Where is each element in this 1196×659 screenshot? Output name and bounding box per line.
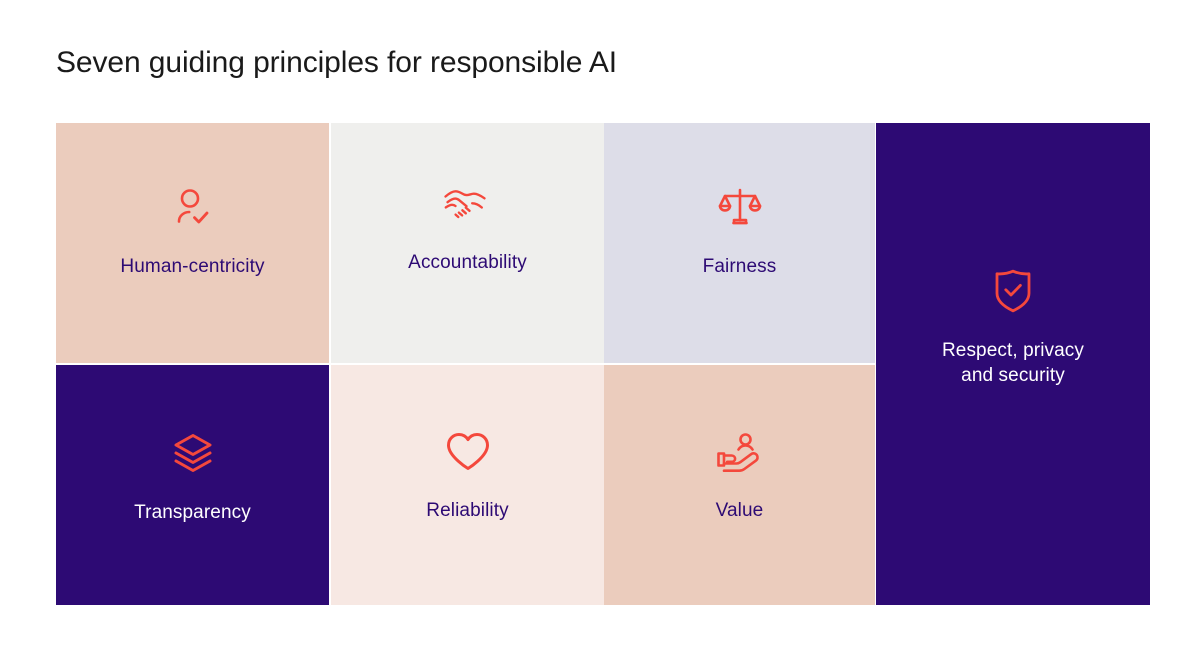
principle-label-line-1: Respect, privacy [942, 340, 1084, 361]
principle-tile-fairness[interactable]: Fairness [604, 123, 875, 363]
layers-stack-icon [171, 431, 215, 475]
principle-label: Value [716, 498, 764, 523]
principle-label: Reliability [426, 498, 508, 523]
principle-tile-transparency[interactable]: Transparency [56, 365, 329, 605]
principle-tile-accountability[interactable]: Accountability [331, 123, 604, 363]
principle-label: Human-centricity [120, 254, 264, 279]
principle-label-line-2: and security [961, 365, 1065, 386]
principle-tile-respect-privacy-security[interactable]: Respect, privacyand security [876, 123, 1150, 605]
handshake-icon [443, 185, 493, 225]
hand-person-icon [716, 431, 764, 473]
principle-label: Respect, privacyand security [942, 338, 1084, 388]
scales-icon [718, 185, 762, 229]
principle-tile-reliability[interactable]: Reliability [331, 365, 604, 605]
principle-label: Transparency [134, 500, 251, 525]
principle-tile-human-centricity[interactable]: Human-centricity [56, 123, 329, 363]
page-title: Seven guiding principles for responsible… [56, 44, 617, 82]
person-check-icon [171, 185, 215, 229]
principle-label: Fairness [703, 254, 777, 279]
heart-icon [445, 431, 491, 473]
shield-check-icon [992, 268, 1034, 314]
responsible-ai-principles-page: Seven guiding principles for responsible… [0, 0, 1196, 659]
principles-grid: Human-centricity Accountability [56, 123, 1150, 605]
principle-tile-value[interactable]: Value [604, 365, 875, 605]
principle-label: Accountability [408, 250, 527, 275]
